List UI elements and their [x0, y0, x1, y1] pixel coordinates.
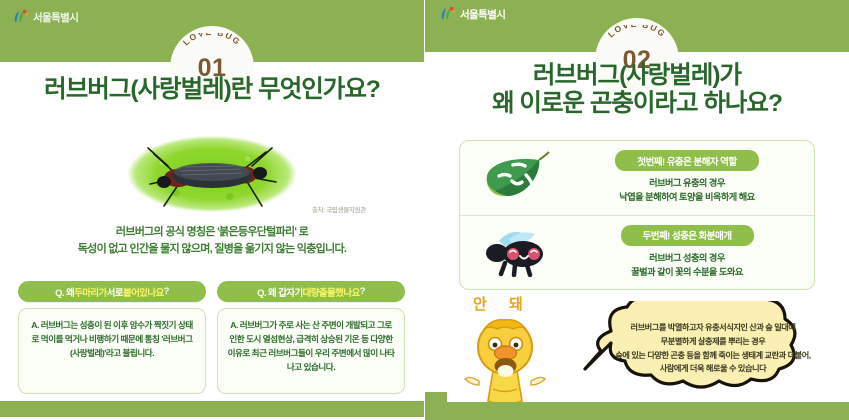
q-highlight-1: 두마리가 — [74, 285, 107, 299]
benefit-pill-larva: 첫번째! 유충은 분해자 역할 — [615, 150, 758, 171]
warning-bubble-text: 러브버그를 박멸하고자 유충서식지인 산과 숲 일대에 무분별하게 살충제를 뿌… — [579, 321, 847, 376]
benefit-sub-line-2: 꿀벌과 같이 꽃의 수분을 도와요 — [570, 265, 804, 279]
seoul-logo-icon — [12, 9, 29, 25]
seoul-logo: 서울특별시 — [12, 9, 78, 25]
qa-question-2: Q. 왜 갑자기 대량 출몰했나요? — [217, 281, 405, 302]
q-highlight-1: 대량 — [303, 285, 319, 299]
seoul-logo-label: 서울특별시 — [460, 7, 505, 22]
benefit-sub-larva: 러브버그 유충의 경우 낙엽을 분해하여 토양을 비옥하게 해요 — [570, 176, 804, 205]
benefit-text-adult: 두번째! 성충은 화분매개 러브버그 성충의 경우 꿀벌과 같이 꽃의 수분을 … — [570, 225, 804, 280]
benefit-text-larva: 첫번째! 유충은 분해자 역할 러브버그 유충의 경우 낙엽을 분해하여 토양을… — [570, 150, 804, 205]
bitten-leaf-icon — [470, 150, 562, 204]
seoul-logo: 서울특별시 — [439, 6, 505, 22]
lead-line-1: 러브버그의 공식 명칭은 '붉은등우단털파리' 로 — [0, 224, 424, 241]
bottom-green-bar — [425, 402, 849, 420]
svg-text:LOVE BUG: LOVE BUG — [181, 33, 243, 47]
q-prefix: Q. 왜 — [55, 285, 74, 299]
qa-question-1: Q. 왜 두마리가 서로 붙어있나요? — [18, 281, 206, 302]
benefit-sub-line-1: 러브버그 성충의 경우 — [570, 251, 804, 265]
qa-answer-2: A. 러브버그가 주로 사는 산 주변이 개발되고 그로 인한 도시 열섬현상,… — [217, 308, 405, 394]
benefit-row-adult: 두번째! 성충은 화분매개 러브버그 성충의 경우 꿀벌과 같이 꽃의 수분을 … — [460, 215, 814, 290]
page-title-left: 러브버그(사랑벌레)란 무엇인가요? — [0, 76, 424, 104]
benefits-panel: 첫번째! 유충은 분해자 역할 러브버그 유충의 경우 낙엽을 분해하여 토양을… — [459, 140, 815, 290]
warning-line-3: 숲에 있는 다양한 곤충 등을 함께 죽이는 생태계 교란과 더불어, — [579, 349, 847, 363]
benefit-sub-line-1: 러브버그 유충의 경우 — [570, 176, 804, 190]
lead-line-2: 독성이 없고 인간을 물지 않으며, 질병을 옮기지 않는 익충입니다. — [0, 241, 424, 258]
q-suffix: ? — [360, 286, 365, 297]
q-highlight-2: 출몰했나요 — [319, 285, 360, 299]
bottom-left-tab — [425, 392, 447, 402]
lovebug-character-icon — [470, 227, 562, 277]
page-title-line-1: 러브버그(사랑벌레)가 — [425, 62, 849, 90]
bottom-green-bar — [0, 401, 424, 417]
photo-credit: 출처: 국립생물자원관 — [312, 204, 366, 214]
benefit-pill-adult: 두번째! 성충은 화분매개 — [621, 225, 754, 246]
seoul-logo-label: 서울특별시 — [33, 10, 78, 25]
warning-line-4: 사람에게 더욱 해로울 수 있습니다 — [579, 362, 847, 376]
svg-text:LOVE BUG: LOVE BUG — [606, 25, 668, 39]
q-prefix: Q. 왜 갑자기 — [257, 285, 302, 299]
seoul-logo-icon — [439, 6, 456, 22]
q-suffix: ? — [164, 286, 169, 297]
q-mid: 서로 — [107, 285, 123, 299]
qa-answer-1: A. 러브버그는 성충이 된 이후 암수가 짝짓기 상태로 먹이를 먹거나 비행… — [18, 308, 206, 394]
page-title-right: 러브버그(사랑벌레)가 왜 이로운 곤충이라고 하나요? — [425, 62, 849, 119]
q-highlight-2: 붙어있나요 — [123, 285, 164, 299]
warning-section: 안 돼 러브버그를 박멸하고자 유충서식지인 산과 숲 — [451, 293, 849, 405]
benefit-sub-adult: 러브버그 성충의 경우 꿀벌과 같이 꽃의 수분을 도와요 — [570, 251, 804, 280]
qa-item-1: Q. 왜 두마리가 서로 붙어있나요? A. 러브버그는 성충이 된 이후 암수… — [18, 281, 206, 394]
benefit-sub-line-2: 낙엽을 분해하여 토양을 비옥하게 해요 — [570, 190, 804, 204]
card-lovebug-02: 서울특별시 LOVE BUG 02 러브버그(사랑벌레)가 왜 이로운 곤충이라… — [424, 0, 849, 420]
lovebug-infographic: 서울특별시 LOVE BUG 01 러브버그(사랑벌레)란 무엇인가요? — [0, 0, 849, 420]
qa-item-2: Q. 왜 갑자기 대량 출몰했나요? A. 러브버그가 주로 사는 산 주변이 … — [217, 281, 405, 394]
qa-row: Q. 왜 두마리가 서로 붙어있나요? A. 러브버그는 성충이 된 이후 암수… — [18, 281, 406, 394]
warning-line-1: 러브버그를 박멸하고자 유충서식지인 산과 숲 일대에 — [579, 321, 847, 335]
lead-paragraph: 러브버그의 공식 명칭은 '붉은등우단털파리' 로 독성이 없고 인간을 물지 … — [0, 224, 424, 258]
card-lovebug-01: 서울특별시 LOVE BUG 01 러브버그(사랑벌레)란 무엇인가요? — [0, 0, 424, 420]
mating-lovebugs-illustration — [120, 140, 306, 210]
haechi-mascot-icon — [463, 309, 547, 405]
page-title-line-2: 왜 이로운 곤충이라고 하나요? — [425, 90, 849, 118]
warning-line-2: 무분별하게 살충제를 뿌리는 경우 — [579, 335, 847, 349]
benefit-row-larva: 첫번째! 유충은 분해자 역할 러브버그 유충의 경우 낙엽을 분해하여 토양을… — [460, 141, 814, 215]
